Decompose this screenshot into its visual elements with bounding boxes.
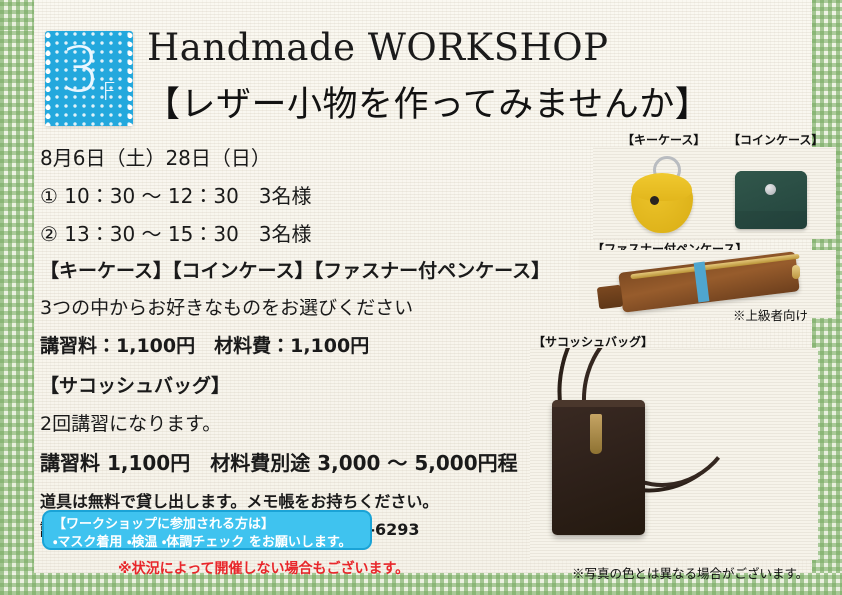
course-a-fee: 講習料：1,100円 材料費：1,100円 [40,331,560,358]
schedule-slot-2: ② 13：30 ～ 15：30 3名様 [40,218,560,247]
sacoche-top-trim [552,400,645,407]
coin-case-label: 【コインケース】 [728,131,823,148]
course-b-title: 【サコッシュバッグ】 [40,371,560,398]
coin-case-snap [765,184,776,195]
notice-detail: ・マスク着用 ・検温 ・体調チェック をお願いします。 [53,534,362,552]
course-b-sessions: 2回講習になります。 [40,409,560,436]
advanced-note: ※上級者向け [733,305,808,324]
border-corner-gingham [0,0,34,30]
schedule-slot-1: ① 10：30 ～ 12：30 3名様 [40,180,560,209]
workshop-details: 8月6日（土）28日（日） ① 10：30 ～ 12：30 3名様 ② 13：3… [40,142,560,544]
border-left-gingham [0,0,34,595]
pen-case-zip-pull [792,265,800,279]
covid-notice-box: 【ワークショップに参加される方は】 ・マスク着用 ・検温 ・体調チェック をお願… [42,510,372,550]
floor-badge-suffix: F [102,79,116,104]
photo-color-disclaimer: ※写真の色とは異なる場合がございます。 [572,563,808,582]
course-b-fee: 講習料 1,100円 材料費別途 3,000 ～ 5,000円程 [40,447,560,476]
tools-note: 道具は無料で貸し出します。メモ帳をお持ちください。 [40,488,560,512]
course-a-choose: 3つの中からお好きなものをお選びください [40,293,560,320]
floor-badge: 3 F [45,31,133,126]
page-title-english: Handmade WORKSHOP [147,26,609,69]
photo-key-and-coin-case [593,147,836,239]
course-a-items: 【キーケース】【コインケース】【ファスナー付ペンケース】 [40,256,560,283]
schedule-dates: 8月6日（土）28日（日） [40,142,560,171]
key-case-snap [650,196,659,205]
page-title-japanese: 【レザー小物を作ってみませんか】 [145,76,710,127]
floor-badge-number: 3 [61,39,100,101]
photo-sacoche-bag [530,348,818,560]
cancellation-warning: ※状況によって開催しない場合もございます。 [118,558,409,578]
pen-case-tab [597,285,624,310]
key-case-flap [632,173,692,201]
notice-heading: 【ワークショップに参加される方は】 [53,516,362,534]
sacoche-tassel [590,414,602,454]
key-case-label: 【キーケース】 [622,131,705,148]
flyer-page: 3 F Handmade WORKSHOP 【レザー小物を作ってみませんか】 8… [0,0,842,595]
